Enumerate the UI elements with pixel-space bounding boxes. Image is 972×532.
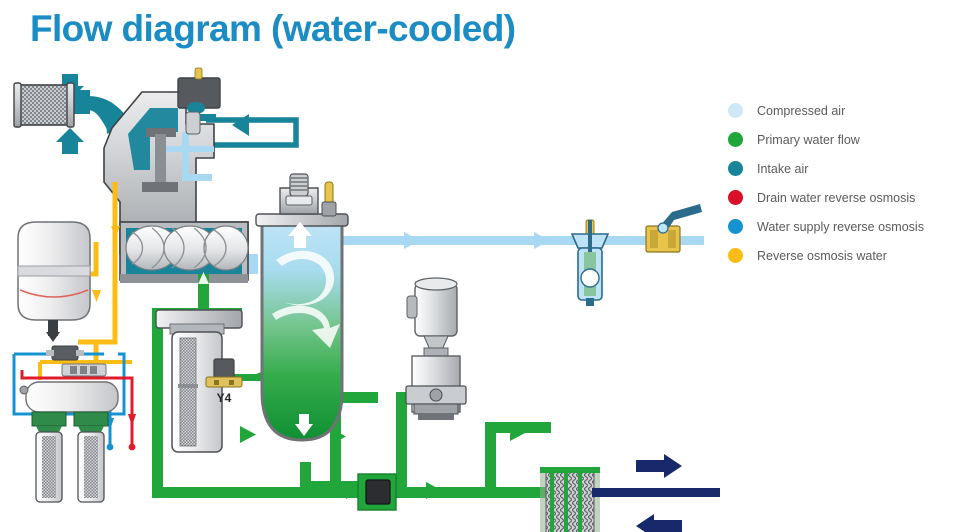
minimum-pressure-valve — [280, 174, 318, 214]
air-oil-separator-tank — [256, 174, 348, 440]
intake-air-filter — [14, 83, 74, 127]
cooling-water-piping — [592, 454, 720, 532]
legend-label-primary-water-flow: Primary water flow — [757, 133, 860, 147]
legend-label-intake-air: Intake air — [757, 162, 808, 176]
flow-diagram-page: Flow diagram (water-cooled) Compressed a… — [0, 0, 972, 532]
legend-swatch-intake-air — [728, 161, 743, 176]
legend-item-drain-water-reverse-osmosis: Drain water reverse osmosis — [728, 183, 968, 212]
legend-swatch-drain-water-reverse-osmosis — [728, 190, 743, 205]
legend-swatch-primary-water-flow — [728, 132, 743, 147]
ro-pressure-tank — [18, 222, 90, 342]
legend-label-water-supply-reverse-osmosis: Water supply reverse osmosis — [757, 220, 924, 234]
legend-item-water-supply-reverse-osmosis: Water supply reverse osmosis — [728, 212, 968, 241]
pump-control-valve — [358, 474, 396, 510]
page-title: Flow diagram (water-cooled) — [30, 8, 515, 50]
compressed-air-filter — [572, 220, 608, 306]
legend-item-primary-water-flow: Primary water flow — [728, 125, 968, 154]
reverse-osmosis-unit — [20, 346, 118, 502]
legend: Compressed air Primary water flow Intake… — [728, 96, 968, 270]
legend-label-drain-water-reverse-osmosis: Drain water reverse osmosis — [757, 191, 915, 205]
legend-swatch-water-supply-reverse-osmosis — [728, 219, 743, 234]
legend-item-compressed-air: Compressed air — [728, 96, 968, 125]
legend-item-reverse-osmosis-water: Reverse osmosis water — [728, 241, 968, 270]
water-pump-motor — [406, 278, 466, 420]
legend-item-intake-air: Intake air — [728, 154, 968, 183]
legend-label-compressed-air: Compressed air — [757, 104, 845, 118]
legend-swatch-compressed-air — [728, 103, 743, 118]
legend-swatch-reverse-osmosis-water — [728, 248, 743, 263]
plate-heat-exchanger — [540, 467, 600, 532]
y4-valve-label: Y4 — [217, 391, 232, 405]
flow-diagram-canvas: Y4 — [0, 62, 720, 532]
legend-label-reverse-osmosis-water: Reverse osmosis water — [757, 249, 887, 263]
intake-valve-assembly — [104, 68, 248, 283]
pressure-gauge — [322, 182, 336, 216]
screw-compressor-element — [126, 226, 248, 270]
